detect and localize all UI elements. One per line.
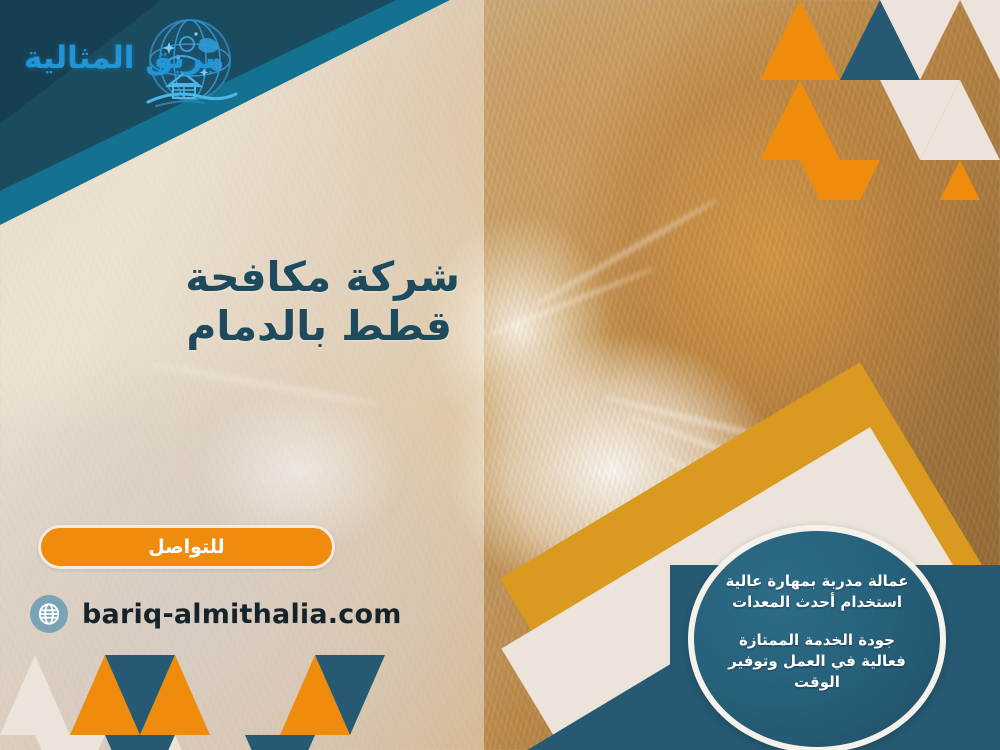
decor-triangle: [760, 0, 840, 80]
decor-triangle: [0, 655, 70, 735]
brand-logo-text: بريق المثالية: [24, 40, 216, 76]
triangle-pattern-bottom-left: [0, 655, 400, 750]
badge-line-4: فعالية في العمل وتوفير: [710, 651, 925, 672]
badge-block-one: عمالة مدربة بمهارة عالية استخدام أحدث ال…: [710, 571, 925, 614]
decor-triangle: [245, 735, 315, 750]
badge-line-1: عمالة مدربة بمهارة عالية: [710, 571, 925, 592]
badge-block-two: جودة الخدمة الممتازة فعالية في العمل وتو…: [710, 630, 925, 694]
badge-line-3: جودة الخدمة الممتازة: [710, 630, 925, 651]
promo-banner: بريق المثالية شركة مكافحة قطط بالدمام لل…: [0, 0, 1000, 750]
badge-line-2: استخدام أحدث المعدات: [710, 592, 925, 613]
decor-triangle: [35, 735, 105, 750]
headline-line-1: شركة مكافحة: [185, 256, 460, 299]
website-url[interactable]: bariq-almithalia.com: [82, 599, 402, 630]
badge-line-5: الوقت: [710, 672, 925, 693]
decor-triangle: [760, 80, 840, 160]
website-row[interactable]: bariq-almithalia.com: [30, 595, 402, 633]
triangle-pattern-top-right: [760, 0, 1000, 200]
contact-button-label: للتواصل: [148, 536, 224, 558]
headline-line-2: قطط بالدمام: [185, 305, 460, 348]
decor-triangle: [105, 735, 175, 750]
page-title: شركة مكافحة قطط بالدمام: [185, 256, 460, 349]
decor-triangle: [800, 160, 880, 200]
features-badge: عمالة مدربة بمهارة عالية استخدام أحدث ال…: [688, 525, 946, 750]
decor-triangle: [920, 160, 1000, 200]
globe-icon: [30, 595, 68, 633]
decor-triangle: [960, 0, 1000, 80]
brand-logo[interactable]: بريق المثالية: [24, 14, 250, 110]
contact-button[interactable]: للتواصل: [38, 525, 335, 569]
